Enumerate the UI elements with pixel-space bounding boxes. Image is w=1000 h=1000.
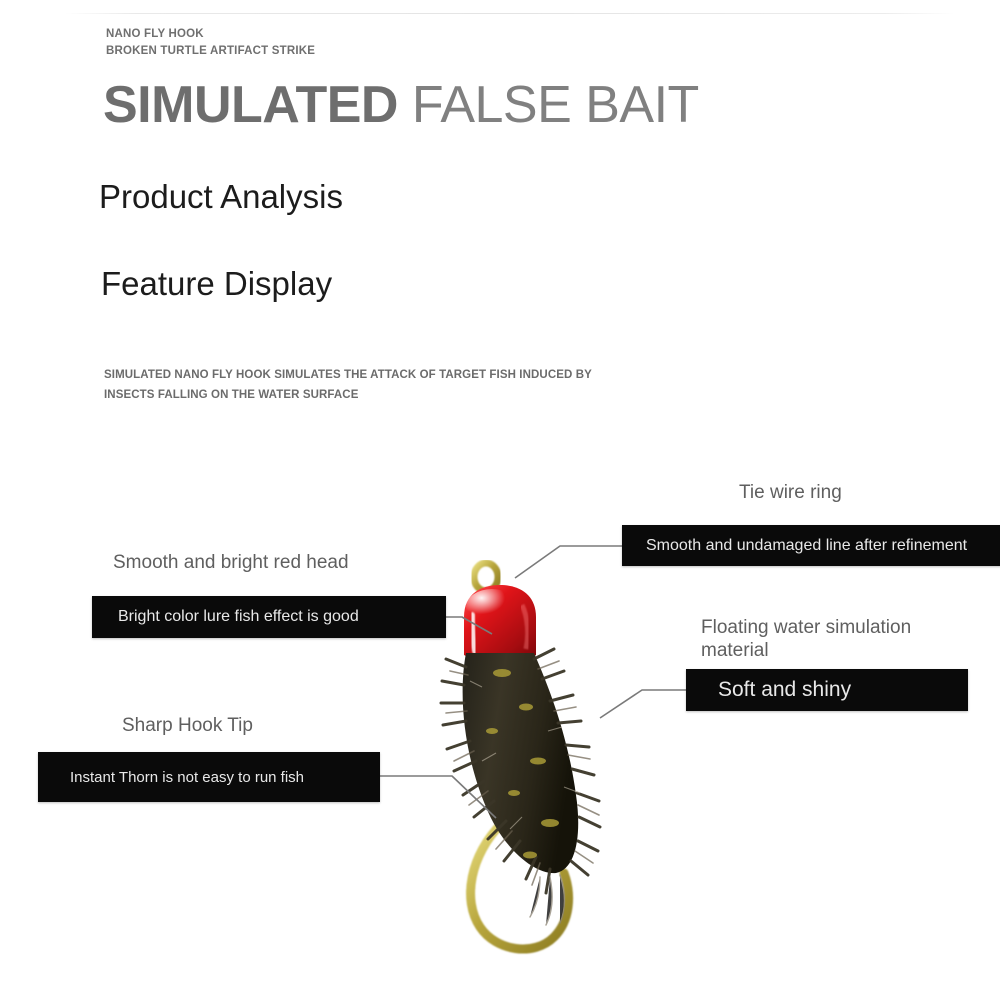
callout-detail-red-head: Bright color lure fish effect is good (118, 608, 359, 626)
callout-label-tie-wire-ring: Tie wire ring (739, 481, 842, 504)
header-divider (65, 13, 955, 14)
description-paragraph: SIMULATED NANO FLY HOOK SIMULATES THE AT… (104, 365, 644, 405)
callout-label-hook-tip: Sharp Hook Tip (122, 714, 253, 737)
heading-feature-display: Feature Display (101, 265, 332, 303)
title-light-word (398, 76, 412, 134)
heading-product-analysis: Product Analysis (99, 178, 343, 216)
red-bead-head (464, 585, 536, 663)
callout-detail-tie-wire-ring: Smooth and undamaged line after refineme… (646, 537, 967, 555)
eyebrow-line-2: BROKEN TURTLE ARTIFACT STRIKE (106, 43, 315, 60)
product-image (430, 555, 660, 975)
title-light-words: FALSE BAIT (412, 76, 699, 134)
page-title: SIMULATED FALSE BAIT (103, 76, 699, 134)
lure-body (441, 649, 600, 925)
header-eyebrow: NANO FLY HOOK BROKEN TURTLE ARTIFACT STR… (106, 26, 315, 60)
callout-label-floating-material: Floating water simulation material (701, 616, 951, 662)
callout-detail-hook-tip: Instant Thorn is not easy to run fish (70, 768, 304, 787)
callout-box-floating-material: Soft and shiny (686, 669, 968, 711)
eyebrow-line-1: NANO FLY HOOK (106, 26, 315, 43)
lure-illustration (430, 555, 660, 975)
callout-box-hook-tip: Instant Thorn is not easy to run fish (38, 752, 380, 802)
callout-box-tie-wire-ring: Smooth and undamaged line after refineme… (622, 525, 1000, 566)
callout-box-red-head: Bright color lure fish effect is good (92, 596, 446, 638)
title-bold-word: SIMULATED (103, 76, 398, 134)
callout-label-red-head: Smooth and bright red head (113, 551, 349, 574)
infographic-page: NANO FLY HOOK BROKEN TURTLE ARTIFACT STR… (0, 0, 1000, 1000)
callout-detail-floating-material: Soft and shiny (718, 678, 851, 702)
